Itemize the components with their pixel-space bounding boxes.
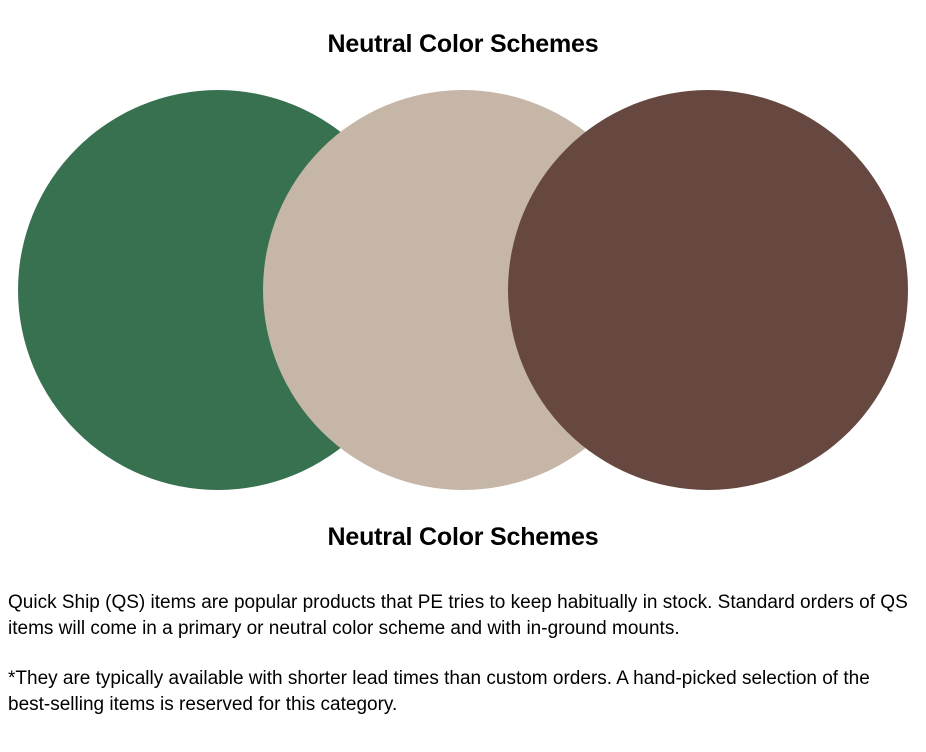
body-copy: Quick Ship (QS) items are popular produc… <box>8 590 908 717</box>
page-title-bottom: Neutral Color Schemes <box>0 521 926 553</box>
color-swatch-brown <box>508 90 908 490</box>
color-swatch-group <box>0 90 926 492</box>
document-page: Neutral Color Schemes Neutral Color Sche… <box>0 0 926 752</box>
paragraph-footnote: *They are typically available with short… <box>8 666 908 717</box>
paragraph-primary: Quick Ship (QS) items are popular produc… <box>8 590 908 641</box>
page-title-top: Neutral Color Schemes <box>0 28 926 60</box>
